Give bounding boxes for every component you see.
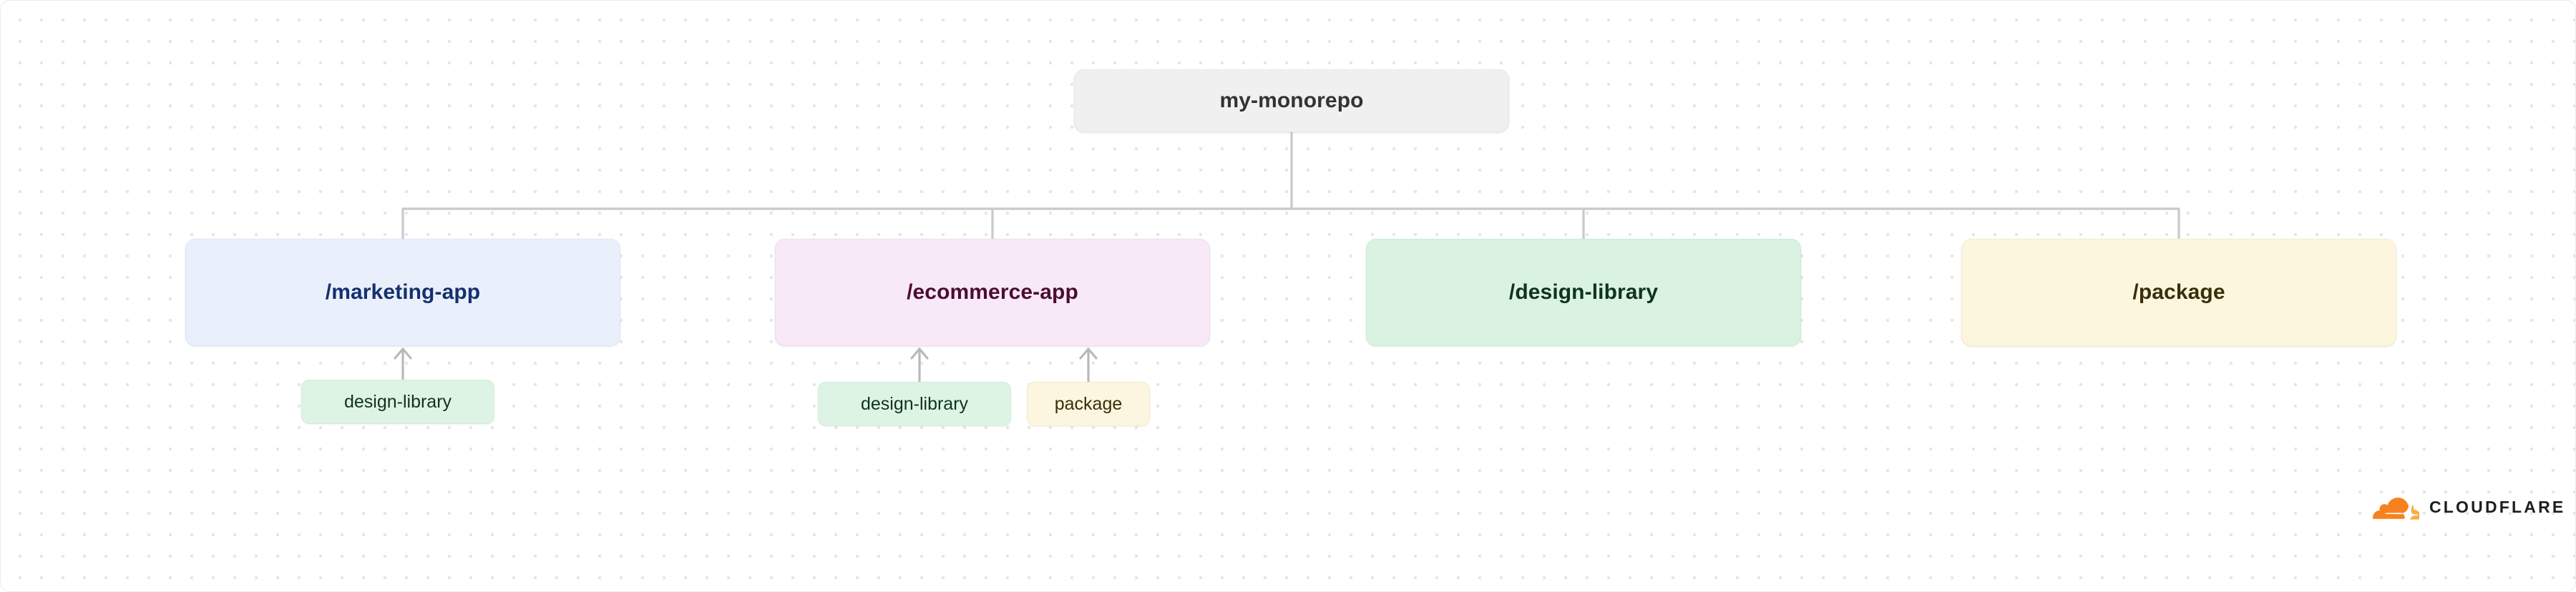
- diagram-canvas: my-monorepo /marketing-app /ecommerce-ap…: [0, 0, 2576, 592]
- node-ecommerce-app[interactable]: /ecommerce-app: [775, 239, 1210, 346]
- node-label: /package: [2132, 280, 2225, 305]
- node-package[interactable]: /package: [1961, 239, 2396, 346]
- cloudflare-logo: CLOUDFLARE: [2368, 494, 2565, 520]
- chip-marketing-dep-design-library[interactable]: design-library: [301, 380, 494, 424]
- node-label: /design-library: [1509, 280, 1658, 305]
- node-label: my-monorepo: [1219, 89, 1363, 113]
- node-my-monorepo[interactable]: my-monorepo: [1074, 69, 1509, 132]
- arrowhead-ecommerce-design-library: [912, 349, 927, 358]
- node-label: /marketing-app: [326, 280, 480, 305]
- arrowhead-marketing-design-library: [395, 349, 411, 358]
- arrowhead-ecommerce-package: [1080, 349, 1096, 358]
- chip-label: design-library: [861, 394, 968, 415]
- cloudflare-wordmark: CLOUDFLARE: [2429, 498, 2565, 517]
- chip-ecommerce-dep-package[interactable]: package: [1027, 382, 1150, 426]
- node-design-library[interactable]: /design-library: [1366, 239, 1801, 346]
- chip-label: design-library: [344, 392, 452, 413]
- node-label: /ecommerce-app: [907, 280, 1078, 305]
- cloudflare-cloud-icon: [2368, 494, 2419, 520]
- node-marketing-app[interactable]: /marketing-app: [185, 239, 620, 346]
- chip-label: package: [1055, 394, 1123, 415]
- chip-ecommerce-dep-design-library[interactable]: design-library: [818, 382, 1011, 426]
